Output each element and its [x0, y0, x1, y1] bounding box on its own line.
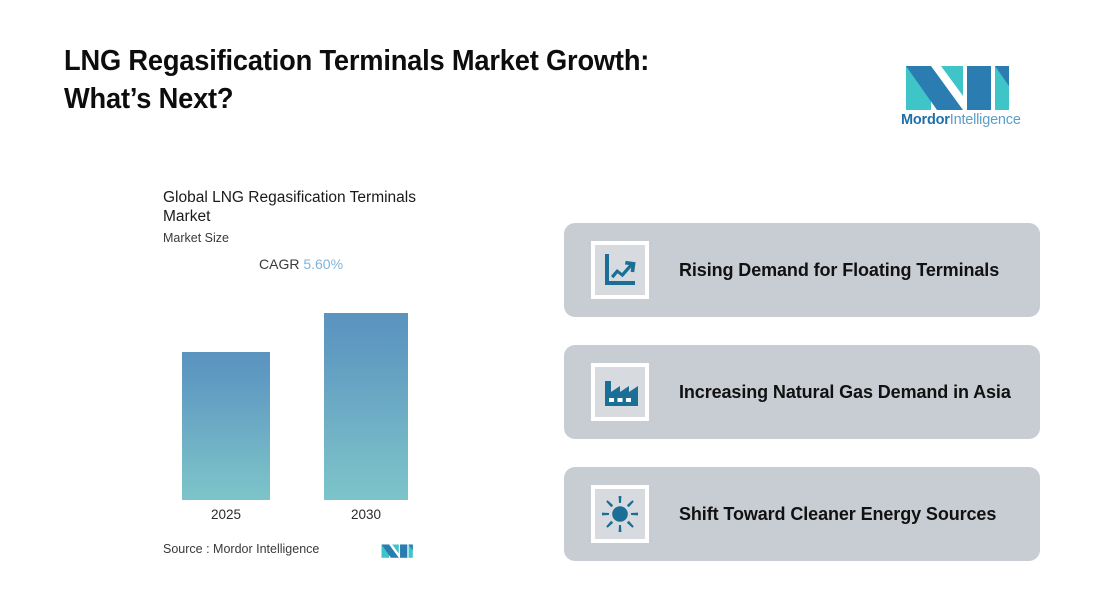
- highlight-card-label: Shift Toward Cleaner Energy Sources: [679, 503, 996, 525]
- mordor-logo-wordmark: MordorIntelligence: [901, 112, 1013, 128]
- source-mordor-logo-mark: [380, 540, 414, 558]
- chart-source: Source : Mordor Intelligence: [163, 540, 433, 562]
- market-size-chart: Global LNG Regasification Terminals Mark…: [163, 188, 433, 558]
- chart-title: Global LNG Regasification Terminals Mark…: [163, 188, 428, 226]
- logo-brand-light: Intelligence: [950, 112, 1021, 128]
- cagr-value: 5.60%: [303, 256, 343, 272]
- sun-icon: [591, 485, 649, 543]
- highlight-card-cleaner-energy[interactable]: Shift Toward Cleaner Energy Sources: [564, 467, 1040, 561]
- cagr-label: CAGR: [259, 256, 299, 272]
- chart-x-axis-labels: 2025 2030: [163, 506, 433, 526]
- mordor-logo-mark: [901, 52, 1013, 110]
- highlight-card-label: Rising Demand for Floating Terminals: [679, 259, 999, 281]
- factory-icon: [591, 363, 649, 421]
- source-label: Source :: [163, 540, 210, 558]
- page-title-line-1: LNG Regasification Terminals Market Grow…: [64, 45, 649, 77]
- bar-2025: [182, 352, 270, 500]
- chart-plot-area: [163, 310, 433, 500]
- cagr-annotation: CAGR 5.60%: [163, 256, 433, 273]
- bar-2030: [324, 313, 408, 500]
- mordor-intelligence-logo: MordorIntelligence: [901, 52, 1013, 132]
- slide-canvas: LNG Regasification Terminals Market Grow…: [0, 0, 1116, 610]
- highlight-card-floating-terminals[interactable]: Rising Demand for Floating Terminals: [564, 223, 1040, 317]
- highlight-card-label: Increasing Natural Gas Demand in Asia: [679, 381, 1011, 403]
- source-name: Mordor Intelligence: [213, 540, 319, 558]
- x-label-2025: 2025: [182, 506, 270, 524]
- highlight-card-gas-demand-asia[interactable]: Increasing Natural Gas Demand in Asia: [564, 345, 1040, 439]
- chart-subtitle: Market Size: [163, 231, 433, 246]
- logo-brand-bold: Mordor: [901, 112, 950, 128]
- highlights-card-list: Rising Demand for Floating Terminals Inc…: [564, 223, 1040, 562]
- x-label-2030: 2030: [324, 506, 408, 524]
- page-title: LNG Regasification Terminals Market Grow…: [64, 42, 797, 118]
- page-title-line-2: What’s Next?: [64, 80, 797, 118]
- growth-chart-icon: [591, 241, 649, 299]
